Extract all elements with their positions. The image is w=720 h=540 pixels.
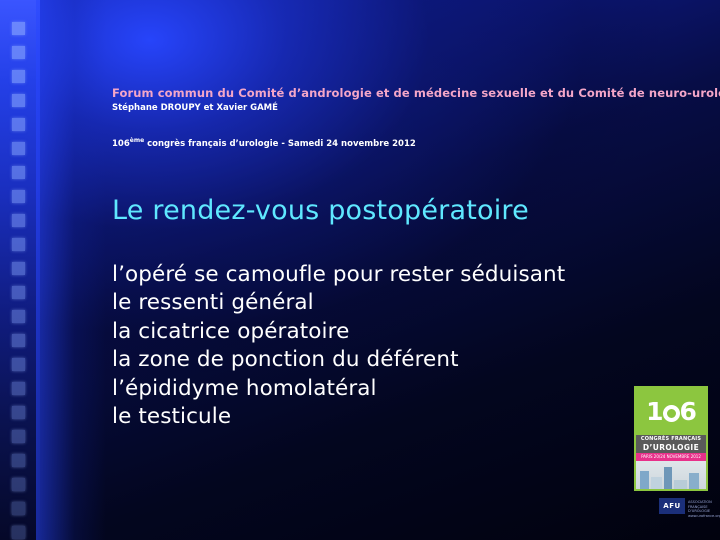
logo-band: CONGRÈS FRANÇAIS D’UROLOGIE <box>636 435 706 453</box>
decorative-square <box>12 478 25 491</box>
decorative-square-column <box>12 22 30 540</box>
logo-number-suffix: 6 <box>680 397 696 426</box>
bullet-item: l’opéré se camoufle pour rester séduisan… <box>112 261 692 290</box>
decorative-square <box>12 382 25 395</box>
congress-number: 106 <box>112 139 130 149</box>
slide-content: Forum commun du Comité d’andrologie et d… <box>112 86 692 432</box>
decorative-square <box>12 94 25 107</box>
bullet-item: la zone de ponction du déférent <box>112 346 692 375</box>
logo-band-line1: CONGRÈS FRANÇAIS <box>641 436 701 442</box>
logo-photo-bar <box>689 473 699 491</box>
bullet-item: l’épididyme homolatéral <box>112 375 692 404</box>
decorative-square <box>12 334 25 347</box>
forum-authors: Stéphane DROUPY et Xavier GAMÉ <box>112 102 692 114</box>
decorative-square <box>12 358 25 371</box>
decorative-square <box>12 166 25 179</box>
logo-number-prefix: 1 <box>646 397 662 426</box>
logo-photo-bar <box>674 480 687 491</box>
decorative-square <box>12 406 25 419</box>
decorative-square <box>12 286 25 299</box>
decorative-square <box>12 70 25 83</box>
page-title: Le rendez-vous postopératoire <box>112 195 692 227</box>
bullet-item: le testicule <box>112 403 692 432</box>
congress-details: congrès français d’urologie - Samedi 24 … <box>144 139 416 149</box>
decorative-square <box>12 142 25 155</box>
bullet-item: la cicatrice opératoire <box>112 318 692 347</box>
congress-ordinal-suffix: ème <box>130 137 144 144</box>
logo-ring-icon <box>663 405 680 422</box>
decorative-square <box>12 214 25 227</box>
decorative-square <box>12 430 25 443</box>
decorative-square <box>12 526 25 539</box>
decorative-square <box>12 118 25 131</box>
decorative-square <box>12 190 25 203</box>
afu-logo-caption: ASSOCIATION FRANÇAISE D’UROLOGIE www.uro… <box>688 500 720 518</box>
afu-logo-mark: AFU <box>659 498 685 514</box>
decorative-square <box>12 310 25 323</box>
decorative-square <box>12 262 25 275</box>
decorative-square <box>12 46 25 59</box>
logo-number: 16 <box>646 399 696 424</box>
decorative-square <box>12 22 25 35</box>
left-strip-glow <box>36 0 106 540</box>
decorative-square <box>12 238 25 251</box>
logo-photo-bar <box>651 477 662 491</box>
slide-canvas: Forum commun du Comité d’andrologie et d… <box>0 0 720 540</box>
logo-number-block: 16 <box>636 388 706 435</box>
logo-photo-bar <box>664 467 672 491</box>
congress-logo: 16 CONGRÈS FRANÇAIS D’UROLOGIE PARIS 20/… <box>634 386 708 491</box>
bullet-list: l’opéré se camoufle pour rester séduisan… <box>112 261 692 432</box>
logo-photo-bar <box>640 471 649 491</box>
congress-line: 106ème congrès français d’urologie - Sam… <box>112 135 692 150</box>
logo-subtitle: PARIS 20/24 NOVEMBRE 2012 <box>636 453 706 461</box>
decorative-square <box>12 454 25 467</box>
bullet-item: le ressenti général <box>112 289 692 318</box>
forum-header-title: Forum commun du Comité d’andrologie et d… <box>112 86 692 101</box>
logo-band-line2: D’UROLOGIE <box>636 443 706 452</box>
decorative-square <box>12 502 25 515</box>
logo-photo-strip <box>636 461 706 491</box>
